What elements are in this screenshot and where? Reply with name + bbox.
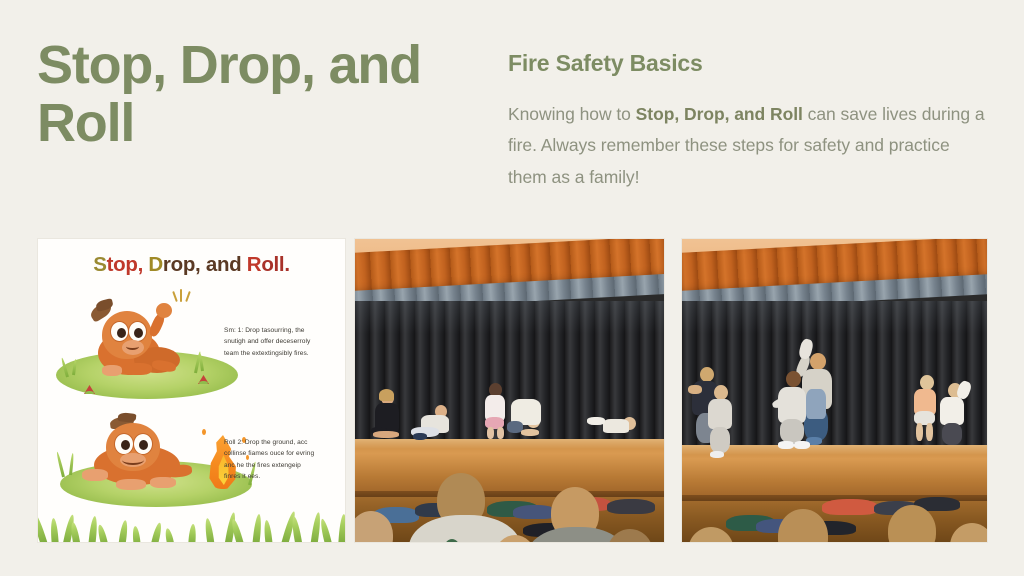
gear-pile	[822, 499, 878, 515]
intro-block: Fire Safety Basics Knowing how to Stop, …	[508, 50, 990, 193]
stage-photo-kneeling	[355, 239, 664, 542]
stage-photo-standing	[682, 239, 987, 542]
page-title: Stop, Drop, and Roll	[37, 36, 492, 153]
illustration-title: Stop, Drop, and Roll.	[38, 253, 345, 277]
stage-floor	[355, 439, 664, 497]
section-body-emphasis: Stop, Drop, and Roll	[636, 104, 803, 124]
illustration-page: Stop, Drop, and Roll.	[38, 239, 345, 542]
illustration-title-seg-2: D	[143, 253, 163, 276]
section-body: Knowing how to Stop, Drop, and Roll can …	[508, 99, 990, 193]
slide: Stop, Drop, and Roll Fire Safety Basics …	[0, 0, 1024, 576]
gear-pile	[607, 499, 655, 514]
illustration-title-seg-1: top,	[107, 253, 143, 276]
illustration-caption-2: Roll 2: Drop the ground, acc collinse fi…	[224, 437, 319, 482]
grass-strip	[38, 482, 345, 542]
illustration-title-seg-3: rop,	[163, 253, 201, 276]
illustration-title-seg-5: R	[247, 253, 262, 276]
illustration-title-seg-4: and	[200, 253, 246, 276]
illustration-card[interactable]: Stop, Drop, and Roll.	[37, 238, 346, 543]
stage-floor	[682, 445, 987, 501]
illustration-caption-1: Sm: 1: Drop tasourring, the snutigh and …	[224, 325, 319, 359]
section-body-lead: Knowing how to	[508, 104, 636, 124]
illustration-title-seg-0: S	[93, 253, 106, 276]
stage-photo-standing-card[interactable]	[681, 238, 988, 543]
stage-photo-kneeling-card[interactable]	[354, 238, 665, 543]
flame-ember	[202, 429, 206, 435]
illustration-title-seg-6: oll.	[261, 253, 289, 276]
section-heading: Fire Safety Basics	[508, 50, 990, 77]
